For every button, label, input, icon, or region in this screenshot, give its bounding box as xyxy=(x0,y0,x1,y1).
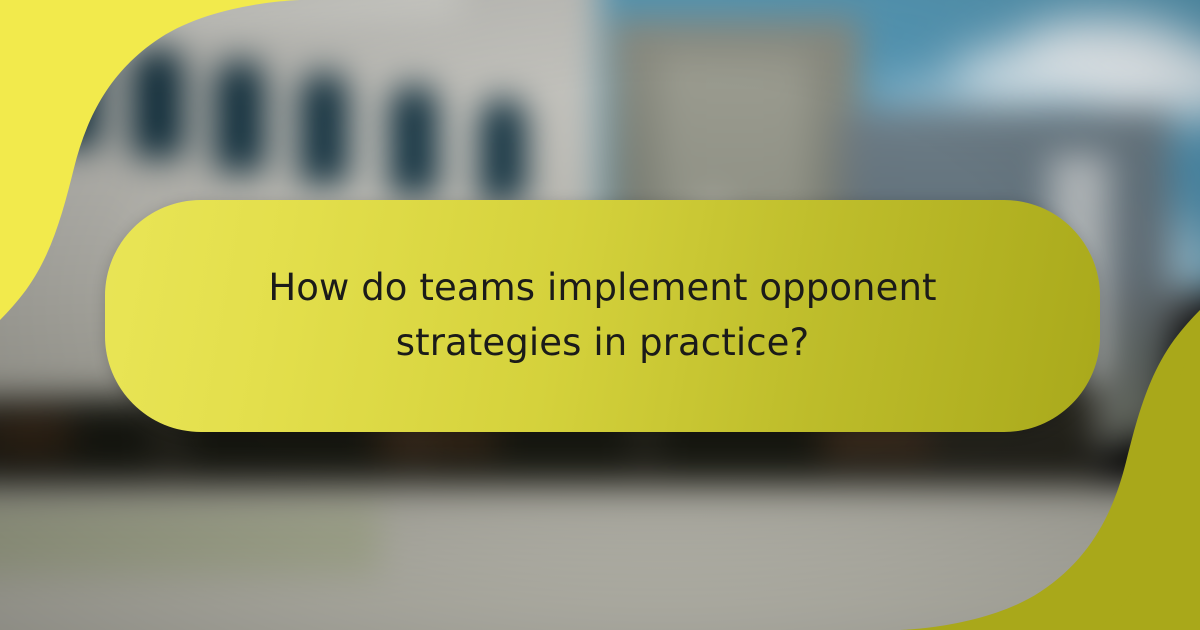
question-card: How do teams implement opponent strategi… xyxy=(105,200,1100,432)
social-card-canvas: How do teams implement opponent strategi… xyxy=(0,0,1200,630)
question-text: How do teams implement opponent strategi… xyxy=(223,261,983,371)
